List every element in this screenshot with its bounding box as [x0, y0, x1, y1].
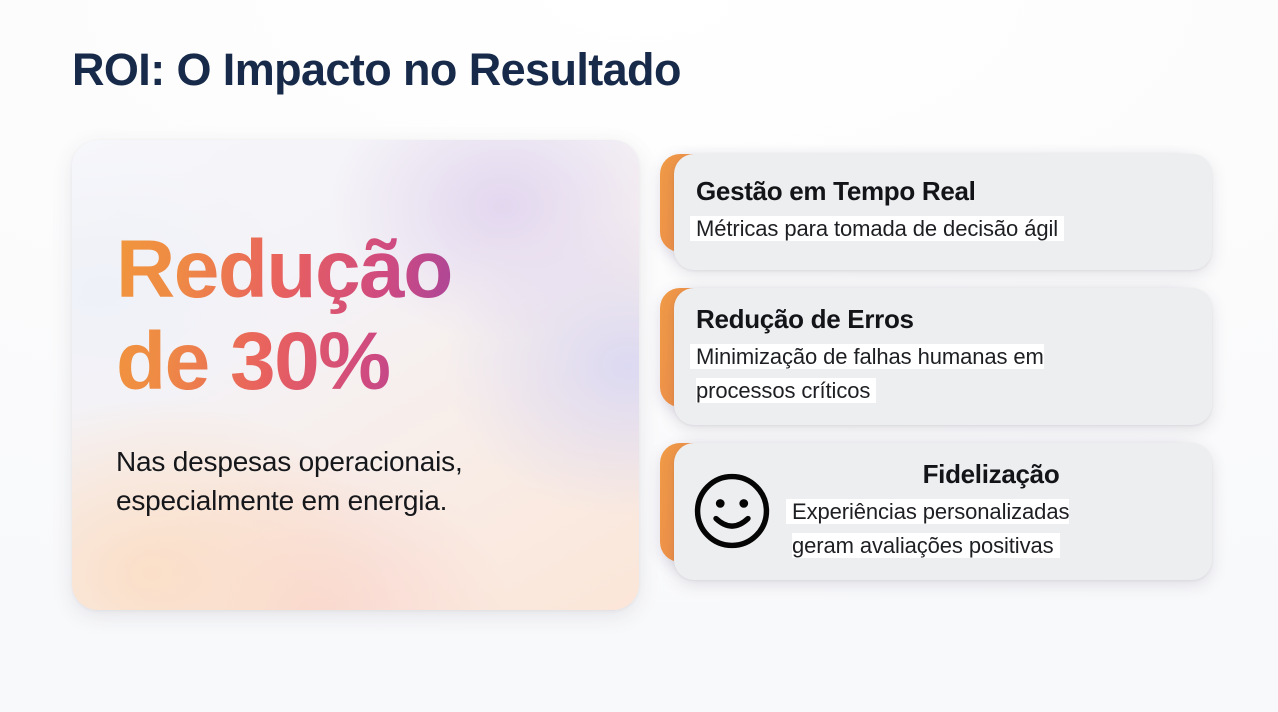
hero-content: Redução de 30% Nas despesas operacionais… [116, 224, 599, 521]
feature-card-surface[interactable]: Fidelização Experiências personalizadas … [674, 443, 1212, 580]
feature-title: Gestão em Tempo Real [696, 176, 1190, 207]
feature-title: Fidelização [792, 459, 1190, 490]
feature-card[interactable]: Gestão em Tempo Real Métricas para tomad… [660, 154, 1212, 270]
feature-description: Experiências personalizadas geram avalia… [792, 499, 1069, 557]
feature-title: Redução de Erros [696, 304, 1190, 335]
feature-card[interactable]: Fidelização Experiências personalizadas … [660, 443, 1212, 580]
smiley-face-icon [690, 469, 774, 553]
slide-canvas: ROI: O Impacto no Resultado Redução de 3… [0, 0, 1278, 712]
hero-headline: Redução de 30% [116, 224, 599, 408]
feature-card[interactable]: Redução de Erros Minimização de falhas h… [660, 288, 1212, 425]
hero-statistic-card: Redução de 30% Nas despesas operacionais… [72, 140, 639, 610]
hero-subtitle: Nas despesas operacionais, especialmente… [116, 442, 599, 522]
feature-description: Métricas para tomada de decisão ágil [696, 216, 1058, 241]
feature-card-surface[interactable]: Gestão em Tempo Real Métricas para tomad… [674, 154, 1212, 270]
feature-card-list: Gestão em Tempo Real Métricas para tomad… [660, 140, 1212, 598]
feature-card-surface[interactable]: Redução de Erros Minimização de falhas h… [674, 288, 1212, 425]
feature-description: Minimização de falhas humanas em process… [696, 344, 1044, 402]
feature-card-body: Gestão em Tempo Real Métricas para tomad… [696, 176, 1190, 246]
feature-card-body: Redução de Erros Minimização de falhas h… [696, 304, 1190, 407]
page-title: ROI: O Impacto no Resultado [72, 44, 681, 96]
feature-card-body: Fidelização Experiências personalizadas … [792, 459, 1190, 562]
